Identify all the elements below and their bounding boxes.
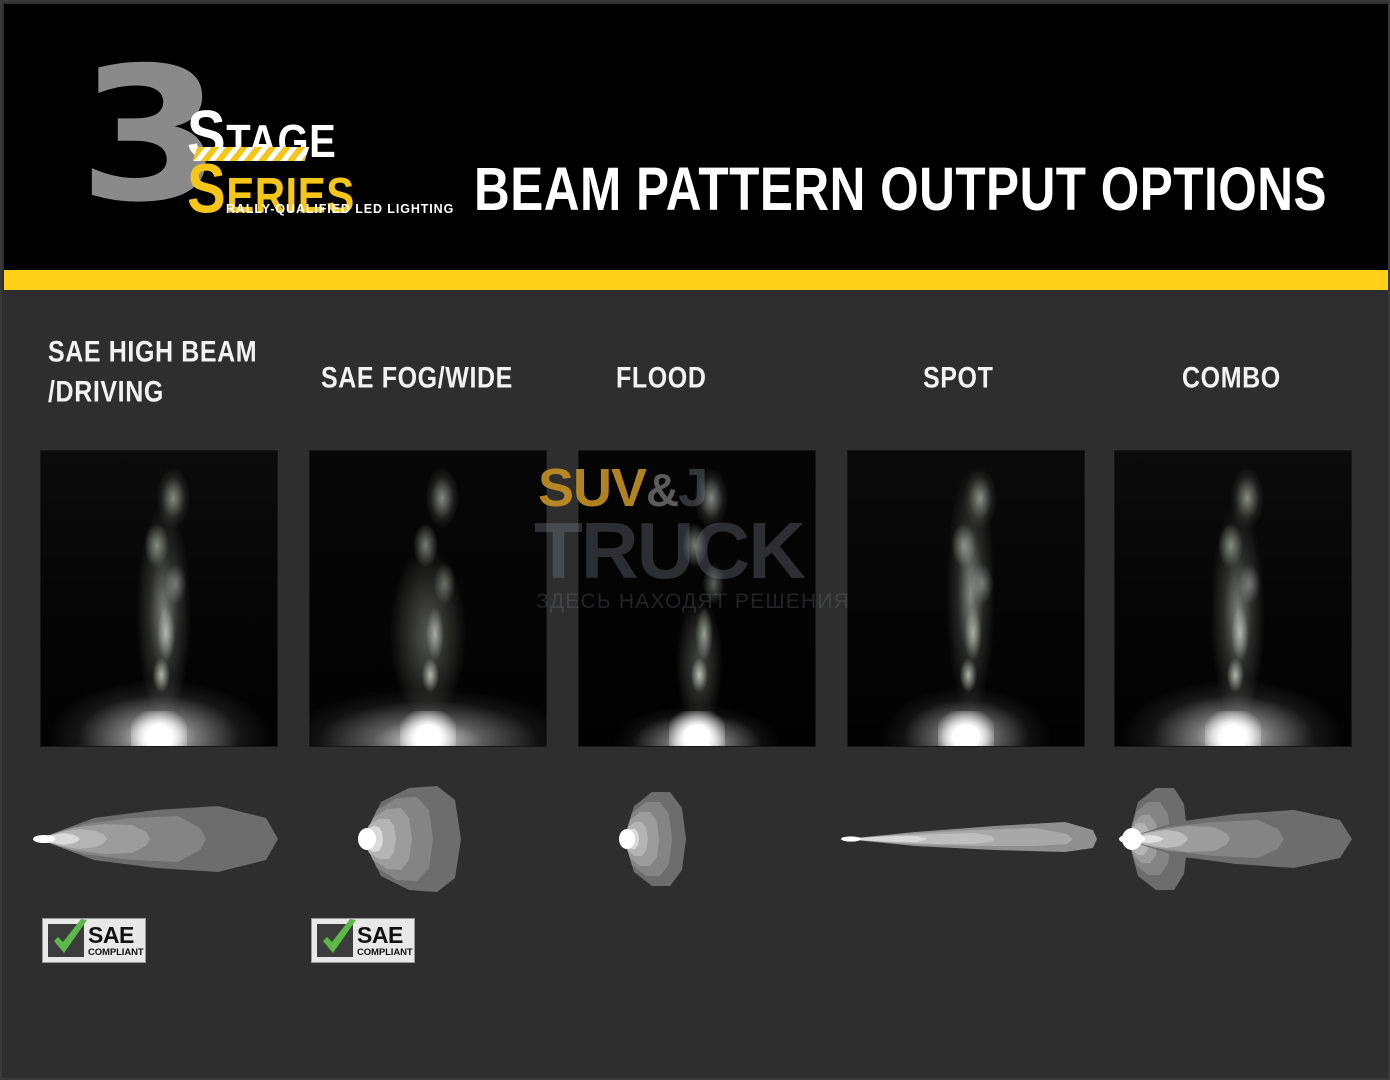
beam-shape-svg — [297, 780, 559, 898]
column-label: SPOT — [923, 358, 1191, 398]
column-label-line1: SPOT — [923, 362, 993, 395]
sae-badge-sub: COMPLIANT — [88, 948, 144, 958]
sae-checkbox — [48, 924, 84, 957]
header-bar: 3 STAGE SERIES RALLY-QUALIFIED LED LIGHT… — [4, 4, 1390, 270]
beam-shape-diagram — [28, 780, 290, 898]
photo-hotspot — [1205, 711, 1262, 747]
column-label-line2: /DRIVING — [48, 376, 164, 409]
column-label-line1: SAE FOG/WIDE — [321, 362, 513, 395]
column-label: SAE FOG/WIDE — [321, 358, 589, 398]
logo-series-capital: S — [187, 150, 226, 228]
photo-hotspot — [131, 711, 188, 747]
sae-badge-text: SAE COMPLIANT — [357, 924, 413, 958]
beam-pattern-infographic: 3 STAGE SERIES RALLY-QUALIFIED LED LIGHT… — [0, 0, 1390, 1080]
sae-compliant-badge: SAE COMPLIANT — [42, 918, 146, 963]
page-title: BEAM PATTERN OUTPUT OPTIONS — [474, 154, 1355, 225]
photo-hotspot — [400, 711, 457, 747]
beam-shape-svg — [835, 780, 1097, 898]
column-label-line1: FLOOD — [616, 362, 707, 395]
sae-badge-sub: COMPLIANT — [357, 948, 413, 958]
sae-compliant-badge: SAE COMPLIANT — [311, 918, 415, 963]
beam-photo — [309, 450, 547, 747]
check-icon — [319, 919, 359, 961]
photo-foliage-texture — [310, 451, 546, 746]
beam-photo — [1114, 450, 1352, 747]
photo-hotspot — [669, 711, 726, 747]
photo-foliage-texture — [1115, 451, 1351, 746]
column-label: SAE HIGH BEAM /DRIVING — [48, 332, 316, 412]
beam-shape-svg — [28, 780, 290, 898]
beam-shape-diagram — [1102, 780, 1364, 898]
beam-shape-diagram — [566, 780, 828, 898]
sae-badge-text: SAE COMPLIANT — [88, 924, 144, 958]
beam-options-grid: SAE HIGH BEAM /DRIVING — [4, 290, 1390, 1080]
yellow-divider — [4, 270, 1390, 290]
column-label-line1: SAE HIGH BEAM — [48, 336, 257, 369]
column-label: FLOOD — [616, 358, 884, 398]
beam-photo — [847, 450, 1085, 747]
photo-foliage-texture — [41, 451, 277, 746]
beam-shape-svg — [1102, 780, 1364, 898]
sae-badge-main: SAE — [88, 924, 144, 947]
sae-badge-main: SAE — [357, 924, 413, 947]
column-label: COMBO — [1182, 358, 1390, 398]
check-icon — [50, 919, 90, 961]
photo-foliage-texture — [848, 451, 1084, 746]
beam-shape-diagram — [297, 780, 559, 898]
logo-tagline: RALLY-QUALIFIED LED LIGHTING — [226, 202, 454, 216]
beam-shape-svg — [566, 780, 828, 898]
beam-photo — [40, 450, 278, 747]
photo-hotspot — [938, 711, 995, 747]
column-label-line1: COMBO — [1182, 362, 1281, 395]
sae-checkbox — [317, 924, 353, 957]
logo-word-series: SERIES — [187, 149, 355, 229]
stage-series-logo: 3 STAGE SERIES RALLY-QUALIFIED LED LIGHT… — [42, 44, 432, 224]
beam-photo — [578, 450, 816, 747]
beam-shape-diagram — [835, 780, 1097, 898]
photo-foliage-texture — [579, 451, 815, 746]
